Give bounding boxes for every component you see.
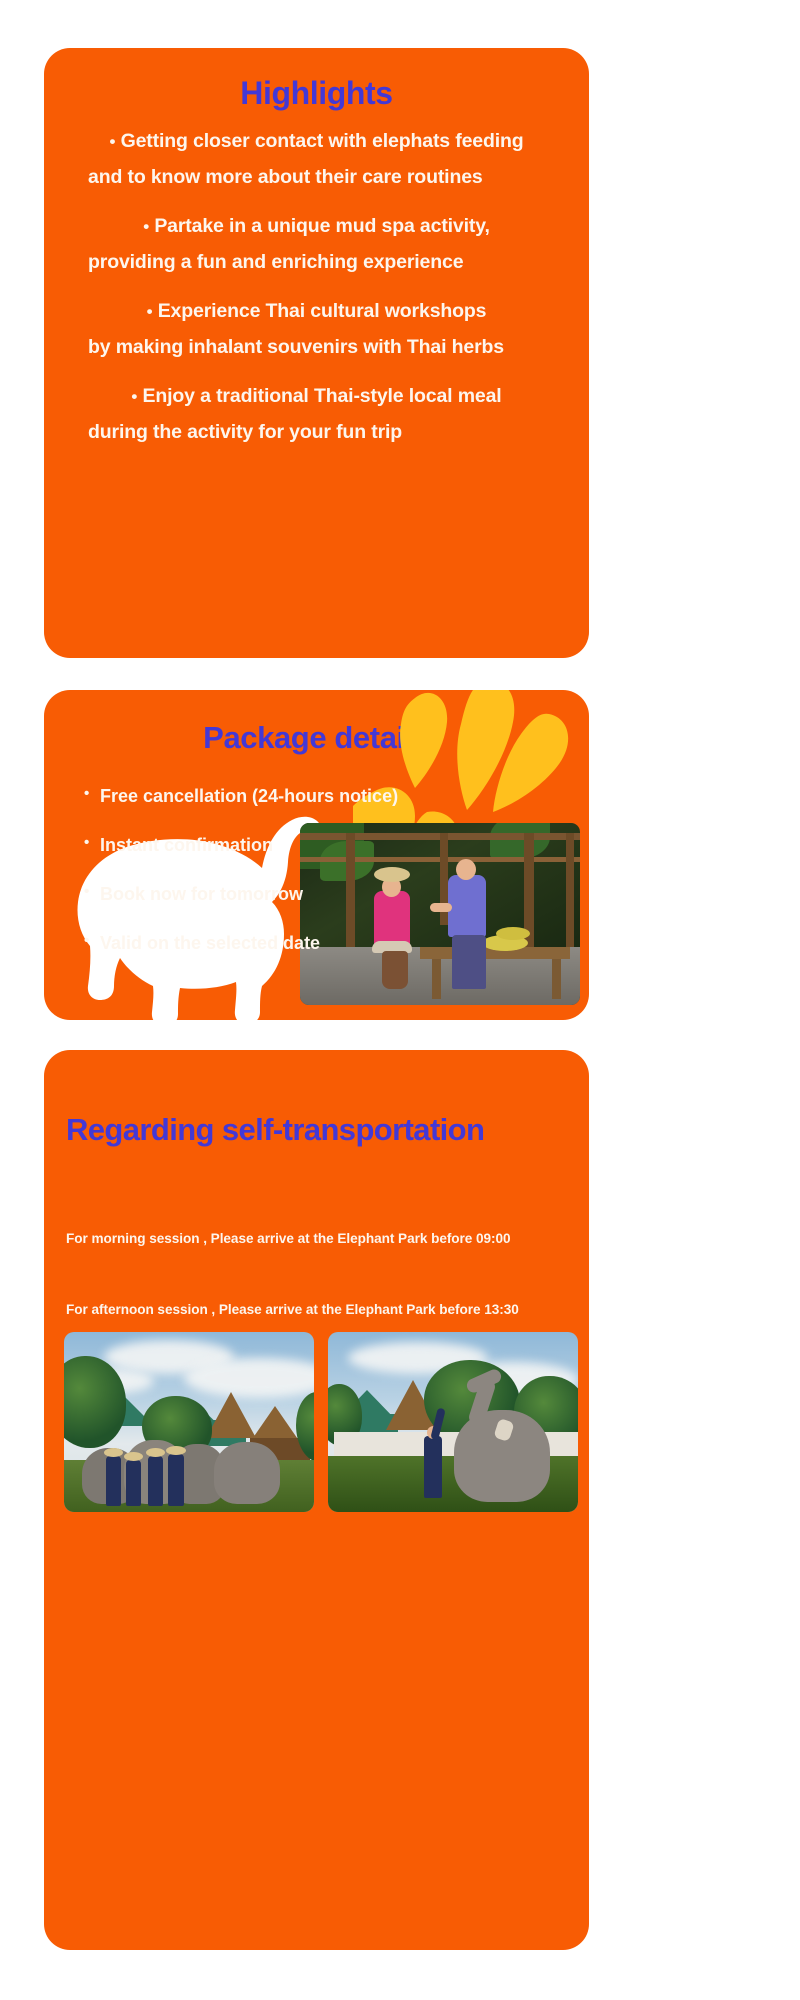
list-item: • Book now for tomorrow xyxy=(84,884,589,905)
highlights-bullet-line-1: Enjoy a traditional Thai-style local mea… xyxy=(143,385,502,407)
highlights-bullet-line-2: providing a fun and enriching experience xyxy=(64,251,569,274)
highlights-bullet-item: • Experience Thai cultural workshops by … xyxy=(64,300,569,359)
highlights-card: Highlights • Getting closer contact with… xyxy=(44,48,589,658)
bullet-dot-icon: • xyxy=(143,217,149,236)
list-item: • Free cancellation (24-hours notice) xyxy=(84,786,589,807)
highlights-bullet-line-2: and to know more about their care routin… xyxy=(64,166,569,189)
package-item-label: Instant confirmation xyxy=(100,835,273,856)
bullet-dot-icon: • xyxy=(109,132,115,151)
highlights-title: Highlights xyxy=(44,75,589,112)
infographic-page: Highlights • Getting closer contact with… xyxy=(0,0,800,2000)
package-item-label: Free cancellation (24-hours notice) xyxy=(100,786,398,807)
list-item: • Instant confirmation xyxy=(84,835,589,856)
highlights-bullet-item: • Enjoy a traditional Thai-style local m… xyxy=(64,385,569,444)
package-item-label: Valid on the selected date xyxy=(100,933,320,954)
self-transportation-title: Regarding self-transportation xyxy=(44,1112,589,1148)
morning-session-note: For morning session , Please arrive at t… xyxy=(44,1231,589,1246)
highlights-bullet-item: • Getting closer contact with elephats f… xyxy=(64,130,569,189)
package-details-card: Package details • Free cancellation (24-… xyxy=(44,690,589,1020)
highlights-bullet-line-2: by making inhalant souvenirs with Thai h… xyxy=(64,336,569,359)
afternoon-session-note: For afternoon session , Please arrive at… xyxy=(44,1302,589,1317)
bullet-dot-icon: • xyxy=(84,835,100,852)
highlights-bullet-item: • Partake in a unique mud spa activity, … xyxy=(64,215,569,274)
package-item-label: Book now for tomorrow xyxy=(100,884,303,905)
package-details-list: • Free cancellation (24-hours notice) • … xyxy=(44,786,589,954)
self-transportation-card: Regarding self-transportation For mornin… xyxy=(44,1050,589,1950)
bullet-dot-icon: • xyxy=(84,933,100,950)
elephant-trunk-raised-photo xyxy=(328,1332,578,1512)
highlights-bullet-line-1: Experience Thai cultural workshops xyxy=(158,300,487,322)
bullet-dot-icon: • xyxy=(84,786,100,803)
highlights-bullet-line-1: Partake in a unique mud spa activity, xyxy=(154,215,489,237)
highlights-bullet-line-1: Getting closer contact with elephats fee… xyxy=(121,130,524,152)
bullet-dot-icon: • xyxy=(84,884,100,901)
list-item: • Valid on the selected date xyxy=(84,933,589,954)
bullet-dot-icon: • xyxy=(147,302,153,321)
bullet-dot-icon: • xyxy=(131,387,137,406)
elephants-with-mahouts-photo xyxy=(64,1332,314,1512)
highlights-bullet-line-2: during the activity for your fun trip xyxy=(64,421,569,444)
highlights-bullet-list: • Getting closer contact with elephats f… xyxy=(44,130,589,444)
transport-photo-row xyxy=(64,1332,578,1512)
